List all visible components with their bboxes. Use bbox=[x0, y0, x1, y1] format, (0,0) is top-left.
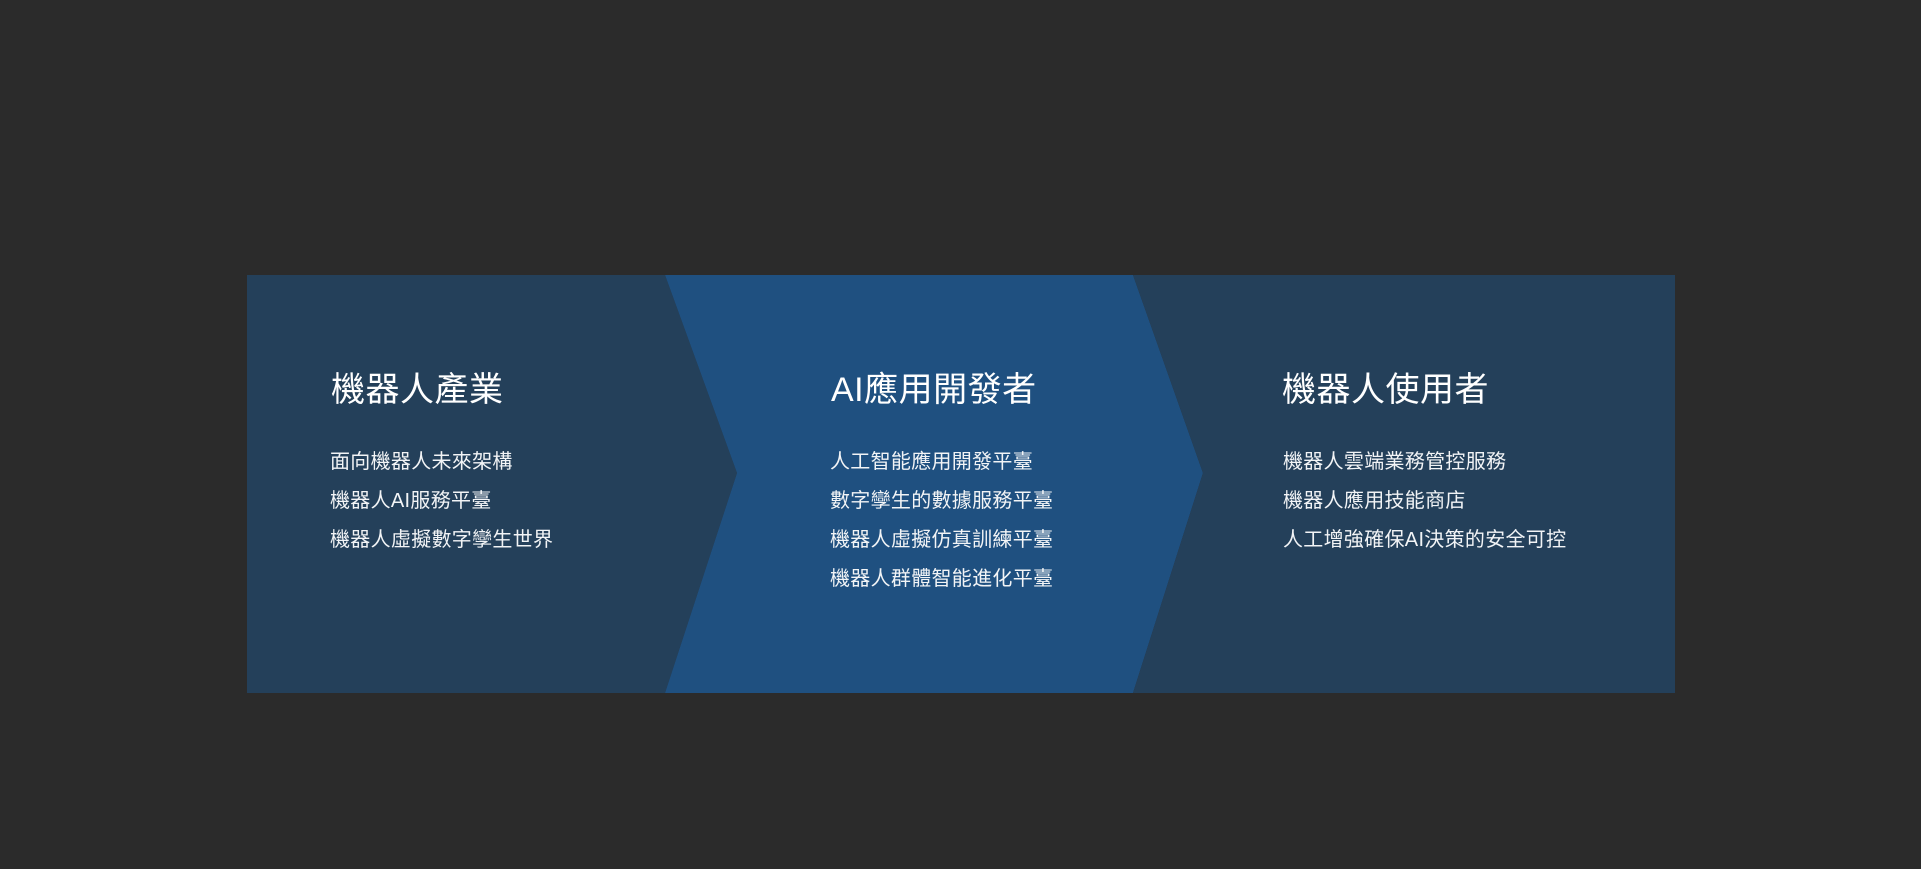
stage-item-list: 人工智能應用開發平臺 數字孿生的數據服務平臺 機器人虛擬仿真訓練平臺 機器人群體… bbox=[830, 443, 1053, 599]
stage-title: 機器人使用者 bbox=[1282, 373, 1489, 407]
stage-list-item: 人工增強確保AI決策的安全可控 bbox=[1283, 521, 1566, 560]
stage-item-list: 機器人雲端業務管控服務 機器人應用技能商店 人工增強確保AI決策的安全可控 bbox=[1283, 443, 1566, 560]
stage-list-item: 數字孿生的數據服務平臺 bbox=[830, 482, 1053, 521]
stage-list-item: 機器人雲端業務管控服務 bbox=[1283, 443, 1566, 482]
diagram-text-layer: 機器人產業 面向機器人未來架構 機器人AI服務平臺 機器人虛擬數字孿生世界 AI… bbox=[0, 0, 1921, 869]
stage-list-item: 人工智能應用開發平臺 bbox=[830, 443, 1053, 482]
stage-title: 機器人產業 bbox=[331, 373, 504, 407]
stage-list-item: 面向機器人未來架構 bbox=[330, 443, 553, 482]
stage-list-item: 機器人群體智能進化平臺 bbox=[830, 560, 1053, 599]
diagram-canvas: 機器人產業 面向機器人未來架構 機器人AI服務平臺 機器人虛擬數字孿生世界 AI… bbox=[0, 0, 1921, 869]
stage-item-list: 面向機器人未來架構 機器人AI服務平臺 機器人虛擬數字孿生世界 bbox=[330, 443, 553, 560]
stage-title: AI應用開發者 bbox=[831, 373, 1037, 407]
stage-list-item: 機器人應用技能商店 bbox=[1283, 482, 1566, 521]
stage-list-item: 機器人虛擬數字孿生世界 bbox=[330, 521, 553, 560]
stage-list-item: 機器人AI服務平臺 bbox=[330, 482, 553, 521]
stage-list-item: 機器人虛擬仿真訓練平臺 bbox=[830, 521, 1053, 560]
